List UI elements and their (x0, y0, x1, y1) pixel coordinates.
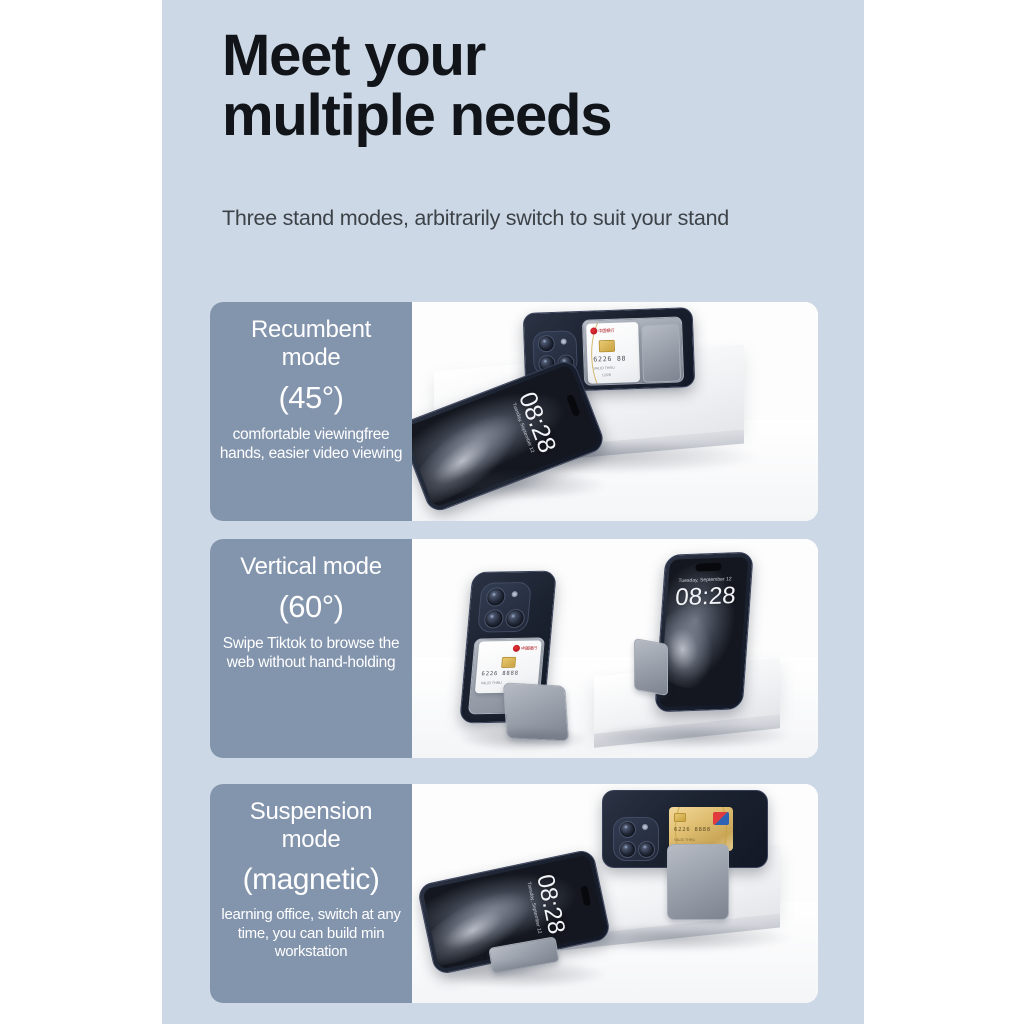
product-feature-page: Meet your multiple needs Three stand mod… (0, 0, 1024, 1024)
issuer-mark (513, 645, 521, 652)
card-number: 6226 8888 (481, 671, 519, 678)
card-label-panel: Recumbent mode (45°) comfortable viewing… (210, 302, 412, 521)
page-title-line-2: multiple needs (222, 86, 782, 146)
camera-lens (619, 821, 636, 838)
phone-screen: Tuesday, September 12 08:28 (660, 557, 749, 707)
kickstand-flap (641, 324, 681, 383)
card-issuer-logo: 中国银行 (590, 327, 614, 335)
bank-card: 中国银行 6226 88 VALID THRU 12/28 (586, 322, 640, 384)
camera-module (613, 817, 659, 861)
camera-lens (505, 609, 526, 628)
magnetic-stand (667, 844, 729, 920)
card-chip (599, 340, 615, 353)
camera-lens (537, 335, 555, 353)
camera-flash (561, 338, 567, 344)
product-photo-recumbent: 中国银行 6226 88 VALID THRU 12/28 08:28 (412, 302, 818, 521)
issuer-mark (590, 327, 597, 334)
product-photo-vertical: 中国银行 6226 8888 VALID THRU (412, 539, 818, 758)
mode-angle: (45°) (278, 381, 343, 415)
page-subtitle: Three stand modes, arbitrarily switch to… (222, 206, 832, 231)
kickstand-leg (634, 638, 668, 696)
card-expiry: 12/28 (602, 373, 611, 377)
mode-angle: (60°) (278, 590, 343, 624)
phone-shadow (460, 727, 588, 751)
card-chip (501, 657, 516, 668)
card-chip (674, 813, 686, 822)
phone-front-standing: Tuesday, September 12 08:28 (654, 552, 753, 713)
camera-module (477, 582, 532, 633)
camera-lens (484, 609, 505, 628)
dynamic-island (580, 885, 591, 906)
card-label-panel: Suspension mode (magnetic) learning offi… (210, 784, 412, 1003)
camera-flash (642, 824, 648, 830)
dynamic-island (695, 563, 722, 572)
mode-description: learning office, switch at any time, you… (219, 906, 403, 963)
page-title: Meet your multiple needs (222, 26, 782, 145)
mode-name: Suspension mode (219, 798, 403, 854)
card-issuer-logo: 中国银行 (513, 644, 538, 651)
issuer-name: 中国银行 (521, 645, 538, 651)
card-label-panel: Vertical mode (60°) Swipe Tiktok to brow… (210, 539, 412, 758)
block-shadow (592, 723, 792, 749)
phone-shadow (436, 960, 606, 988)
feature-card-vertical: Vertical mode (60°) Swipe Tiktok to brow… (210, 539, 818, 758)
mode-name: Vertical mode (240, 553, 382, 581)
product-photo-suspension: 6226 8888 VALID THRU 08:28 Tuesday, Sept… (412, 784, 818, 1003)
mode-description: comfortable viewingfree hands, easier vi… (219, 425, 403, 464)
card-number: 6226 8888 (674, 827, 711, 833)
issuer-name: 中国银行 (598, 327, 614, 334)
feature-card-recumbent: Recumbent mode (45°) comfortable viewing… (210, 302, 818, 521)
dynamic-island (566, 394, 580, 417)
feature-card-suspension: Suspension mode (magnetic) learning offi… (210, 784, 818, 1003)
camera-lens (619, 841, 636, 858)
camera-flash (511, 591, 518, 597)
phone-shadow (416, 470, 606, 500)
card-valid-label: VALID THRU (674, 838, 695, 842)
card-valid-label: VALID THRU (481, 681, 503, 685)
lock-screen-clock: 08:28 (674, 582, 736, 612)
mode-name: Recumbent mode (219, 316, 403, 372)
card-network-badge (713, 812, 729, 825)
camera-lens (485, 587, 506, 606)
card-valid-label: VALID THRU (594, 366, 615, 371)
mode-description: Swipe Tiktok to browse the web without h… (219, 634, 403, 673)
mode-angle: (magnetic) (243, 863, 380, 896)
card-number: 6226 88 (593, 354, 626, 363)
wallet-pocket: 中国银行 6226 88 VALID THRU 12/28 (582, 316, 684, 385)
page-title-line-1: Meet your (222, 26, 782, 86)
camera-lens (638, 841, 655, 858)
